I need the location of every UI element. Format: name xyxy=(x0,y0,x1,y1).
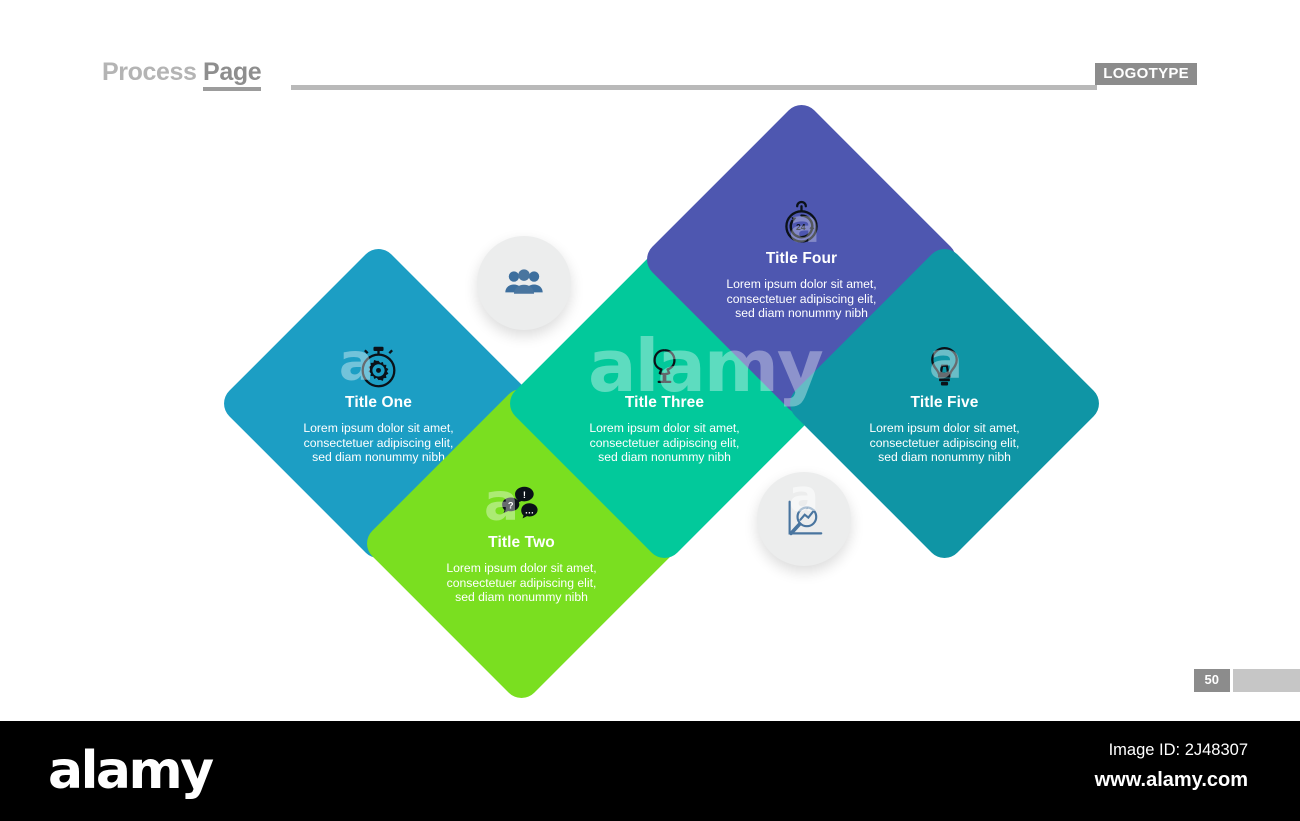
process-card-five-body: Lorem ipsum dolor sit amet, consectetuer… xyxy=(795,420,1095,464)
chart-magnifier-icon xyxy=(781,496,827,542)
process-card-three-title: Title Three xyxy=(515,393,815,411)
badge-people[interactable] xyxy=(477,236,571,330)
svg-text:?: ? xyxy=(508,500,514,510)
alamy-logo: alamy xyxy=(48,745,212,797)
svg-text:!: ! xyxy=(523,489,526,499)
process-card-one-title: Title One xyxy=(229,393,529,411)
pager: 50 xyxy=(1194,669,1300,692)
clock-24h-icon: 24 xyxy=(779,199,825,245)
alamy-footer: alamy Image ID: 2J48307 www.alamy.com xyxy=(0,721,1300,821)
process-card-four-title: Title Four xyxy=(652,249,952,267)
page-number: 50 xyxy=(1194,669,1230,692)
two-heads-icon xyxy=(642,343,688,389)
process-card-two-title: Title Two xyxy=(372,533,672,551)
process-card-five-title: Title Five xyxy=(795,393,1095,411)
svg-text:…: … xyxy=(525,505,534,515)
badge-analysis[interactable] xyxy=(757,472,851,566)
group-people-icon xyxy=(501,260,547,306)
speech-bubbles-icon: ! ? … xyxy=(499,483,545,529)
slide-canvas: Process Page LOGOTYPE xyxy=(0,0,1300,821)
lightbulb-icon xyxy=(922,343,968,389)
process-card-three-body: Lorem ipsum dolor sit amet, consectetuer… xyxy=(515,420,815,464)
process-diagram: Title One Lorem ipsum dolor sit amet, co… xyxy=(0,0,1300,700)
process-card-two-body: Lorem ipsum dolor sit amet, consectetuer… xyxy=(372,560,672,604)
alamy-url: www.alamy.com xyxy=(1095,769,1248,792)
svg-text:24: 24 xyxy=(796,221,806,231)
stopwatch-gear-icon xyxy=(356,343,402,389)
pager-bar xyxy=(1233,669,1300,692)
alamy-image-id: Image ID: 2J48307 xyxy=(1109,741,1248,760)
